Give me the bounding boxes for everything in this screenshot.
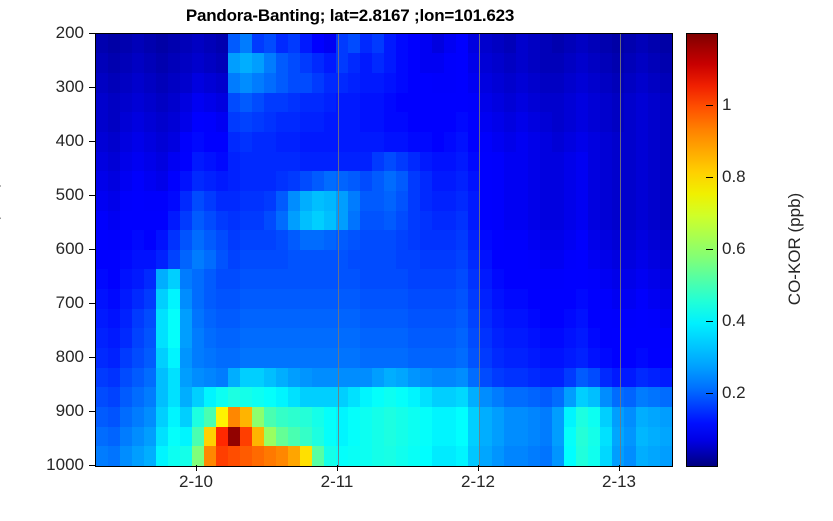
heatmap-cell (204, 112, 217, 133)
heatmap-cell (216, 328, 229, 349)
heatmap-cell (444, 407, 457, 428)
heatmap-cell (288, 211, 301, 232)
heatmap-cell (264, 73, 277, 94)
heatmap-cell (96, 34, 109, 55)
heatmap-cell (624, 230, 637, 251)
heatmap-cell (204, 427, 217, 448)
heatmap-cell (384, 34, 397, 55)
heatmap-cell (444, 34, 457, 55)
heatmap-cell (120, 191, 133, 212)
heatmap-cell (300, 368, 313, 389)
heatmap-cell (192, 211, 205, 232)
heatmap-cell (408, 387, 421, 408)
heatmap-cell (156, 309, 169, 330)
heatmap-cell (624, 289, 637, 310)
heatmap-cell (132, 34, 145, 55)
heatmap-cell (180, 53, 193, 74)
colorbar[interactable] (686, 33, 718, 467)
heatmap-cell (168, 446, 181, 467)
heatmap-cell (564, 250, 577, 271)
heatmap-cell (156, 230, 169, 251)
heatmap-cell (612, 309, 625, 330)
heatmap-cell (168, 171, 181, 192)
heatmap-cell (492, 132, 505, 153)
heatmap-cell (228, 34, 241, 55)
heatmap-cell (612, 427, 625, 448)
heatmap-cell (240, 289, 253, 310)
heatmap-cell (396, 368, 409, 389)
heatmap-cell (276, 191, 289, 212)
heatmap-cell (324, 112, 337, 133)
heatmap-cell (240, 211, 253, 232)
heatmap-cell (564, 132, 577, 153)
heatmap-cell (132, 93, 145, 114)
heatmap-cell (324, 309, 337, 330)
heatmap-cell (516, 211, 529, 232)
heatmap-cell (360, 53, 373, 74)
heatmap-cell (384, 348, 397, 369)
heatmap-cell (384, 112, 397, 133)
heatmap-cell (444, 93, 457, 114)
heatmap-cell (516, 93, 529, 114)
heatmap-cell (180, 269, 193, 290)
heatmap-cell (108, 112, 121, 133)
heatmap-cell (456, 289, 469, 310)
heatmap-cell (252, 250, 265, 271)
heatmap-cell (504, 427, 517, 448)
heatmap-cell (516, 34, 529, 55)
heatmap-cell (156, 250, 169, 271)
heatmap-cell (624, 269, 637, 290)
heatmap-plot-area[interactable] (95, 33, 673, 467)
heatmap-cell (648, 387, 661, 408)
heatmap-cell (480, 250, 493, 271)
heatmap-cell (576, 152, 589, 173)
heatmap-cell (492, 368, 505, 389)
heatmap-cell (456, 407, 469, 428)
heatmap-cell (504, 230, 517, 251)
heatmap-cell (108, 387, 121, 408)
heatmap-cell (348, 289, 361, 310)
heatmap-cell (96, 191, 109, 212)
heatmap-cell (144, 446, 157, 467)
heatmap-cell (432, 387, 445, 408)
heatmap-cell (396, 328, 409, 349)
heatmap-cell (648, 348, 661, 369)
heatmap-cell (96, 171, 109, 192)
heatmap-cell (612, 250, 625, 271)
heatmap-cell (612, 73, 625, 94)
heatmap-cell (648, 368, 661, 389)
heatmap-cell (552, 427, 565, 448)
heatmap-cell (240, 269, 253, 290)
heatmap-cell (276, 309, 289, 330)
heatmap-cell (420, 387, 433, 408)
heatmap-cell (276, 152, 289, 173)
heatmap-cell (420, 152, 433, 173)
heatmap-cell (576, 191, 589, 212)
heatmap-cell (180, 191, 193, 212)
heatmap-cell (324, 53, 337, 74)
heatmap-cell (216, 211, 229, 232)
heatmap-cell (528, 211, 541, 232)
heatmap-cell (408, 132, 421, 153)
heatmap-cell (492, 289, 505, 310)
heatmap-cell (612, 53, 625, 74)
heatmap-cell (192, 427, 205, 448)
heatmap-cell (612, 368, 625, 389)
heatmap-cell (108, 93, 121, 114)
heatmap-cell (552, 446, 565, 467)
heatmap-cell (360, 348, 373, 369)
colorbar-tick-mark (706, 249, 713, 250)
heatmap-cell (324, 191, 337, 212)
heatmap-cell (528, 34, 541, 55)
heatmap-cell (228, 93, 241, 114)
heatmap-cell (360, 309, 373, 330)
heatmap-cell (312, 34, 325, 55)
heatmap-cell (444, 328, 457, 349)
heatmap-cell (96, 211, 109, 232)
heatmap-cell (432, 250, 445, 271)
gridline-vertical (338, 34, 339, 466)
heatmap-cell (228, 368, 241, 389)
heatmap-cell (300, 446, 313, 467)
heatmap-cell (360, 328, 373, 349)
heatmap-cell (636, 269, 649, 290)
heatmap-cell (636, 328, 649, 349)
heatmap-cell (528, 230, 541, 251)
heatmap-cell (432, 446, 445, 467)
heatmap-cell (228, 387, 241, 408)
heatmap-cell (288, 191, 301, 212)
heatmap-cell (240, 191, 253, 212)
heatmap-cell (180, 132, 193, 153)
heatmap-cell (204, 269, 217, 290)
heatmap-cell (108, 230, 121, 251)
heatmap-cell (168, 230, 181, 251)
heatmap-cell (660, 34, 673, 55)
y-tick-mark (89, 303, 95, 304)
heatmap-cell (108, 53, 121, 74)
heatmap-cell (96, 348, 109, 369)
heatmap-cell (180, 230, 193, 251)
heatmap-cell (240, 230, 253, 251)
heatmap-cell (168, 387, 181, 408)
heatmap-cell (156, 269, 169, 290)
heatmap-cell (624, 328, 637, 349)
heatmap-cell (588, 407, 601, 428)
heatmap-cell (624, 93, 637, 114)
heatmap-cell (300, 211, 313, 232)
heatmap-cell (156, 446, 169, 467)
heatmap-cell (108, 328, 121, 349)
heatmap-cell (240, 250, 253, 271)
y-tick-mark (89, 249, 95, 250)
heatmap-cell (540, 328, 553, 349)
heatmap-cell (108, 132, 121, 153)
heatmap-cell (552, 309, 565, 330)
heatmap-cell (156, 73, 169, 94)
x-tick-mark (337, 465, 338, 471)
heatmap-cell (588, 93, 601, 114)
heatmap-cell (660, 446, 673, 467)
heatmap-cell (204, 309, 217, 330)
heatmap-cell (168, 269, 181, 290)
heatmap-cell (132, 112, 145, 133)
heatmap-cell (576, 387, 589, 408)
heatmap-cell (480, 132, 493, 153)
heatmap-cell (348, 348, 361, 369)
heatmap-cell (96, 328, 109, 349)
heatmap-cell (372, 171, 385, 192)
heatmap-cell (180, 368, 193, 389)
heatmap-cell (660, 152, 673, 173)
heatmap-cell (456, 427, 469, 448)
heatmap-cell (348, 368, 361, 389)
heatmap-cell (600, 269, 613, 290)
heatmap-cell (348, 446, 361, 467)
heatmap-cell (132, 211, 145, 232)
heatmap-cell (144, 73, 157, 94)
heatmap-cell (300, 171, 313, 192)
heatmap-cell (432, 211, 445, 232)
heatmap-cell (324, 152, 337, 173)
heatmap-cell (528, 427, 541, 448)
heatmap-cell (204, 446, 217, 467)
heatmap-cell (552, 112, 565, 133)
heatmap-cell (348, 191, 361, 212)
y-tick-mark (89, 141, 95, 142)
heatmap-cell (144, 368, 157, 389)
heatmap-cell (276, 368, 289, 389)
heatmap-cell (228, 132, 241, 153)
heatmap-cell (660, 269, 673, 290)
heatmap-cell (540, 34, 553, 55)
heatmap-cell (588, 53, 601, 74)
heatmap-cell (624, 427, 637, 448)
heatmap-cell (432, 73, 445, 94)
heatmap-cell (660, 309, 673, 330)
heatmap-cell (480, 427, 493, 448)
heatmap-cell (552, 387, 565, 408)
heatmap-cell (264, 132, 277, 153)
heatmap-cell (432, 407, 445, 428)
heatmap-cell (384, 73, 397, 94)
y-tick-label: 1000 (38, 455, 84, 475)
heatmap-cell (624, 171, 637, 192)
heatmap-cell (372, 368, 385, 389)
heatmap-cell (132, 309, 145, 330)
heatmap-cell (252, 309, 265, 330)
heatmap-cell (324, 407, 337, 428)
heatmap-cell (420, 446, 433, 467)
heatmap-cell (456, 93, 469, 114)
heatmap-cell (372, 230, 385, 251)
heatmap-cell (420, 269, 433, 290)
heatmap-cell (348, 34, 361, 55)
heatmap-cell (636, 348, 649, 369)
heatmap-cell (432, 34, 445, 55)
heatmap-cell (216, 230, 229, 251)
heatmap-cell (516, 112, 529, 133)
heatmap-cell (396, 269, 409, 290)
heatmap-cell (516, 171, 529, 192)
x-tick-label: 2-10 (179, 472, 213, 492)
heatmap-cell (276, 93, 289, 114)
heatmap-cell (492, 407, 505, 428)
heatmap-cell (588, 34, 601, 55)
heatmap-cell (144, 289, 157, 310)
heatmap-cell (324, 328, 337, 349)
figure-container: Pandora-Banting; lat=2.8167 ;lon=101.623… (0, 0, 833, 521)
heatmap-cell (480, 407, 493, 428)
heatmap-cell (564, 191, 577, 212)
heatmap-cell (480, 230, 493, 251)
heatmap-cell (372, 34, 385, 55)
heatmap-cell (588, 368, 601, 389)
heatmap-cell (312, 230, 325, 251)
heatmap-cell (636, 53, 649, 74)
heatmap-cell (132, 53, 145, 74)
heatmap-cell (372, 73, 385, 94)
heatmap-cell (144, 250, 157, 271)
heatmap-cell (636, 250, 649, 271)
heatmap-cell (312, 112, 325, 133)
heatmap-cell (216, 53, 229, 74)
heatmap-cell (300, 152, 313, 173)
heatmap-cell (384, 269, 397, 290)
heatmap-cell (444, 348, 457, 369)
heatmap-cell (552, 328, 565, 349)
heatmap-cell (396, 34, 409, 55)
heatmap-cell (396, 53, 409, 74)
heatmap-cell (432, 191, 445, 212)
heatmap-cell (132, 250, 145, 271)
heatmap-cell (480, 53, 493, 74)
heatmap-cell (348, 407, 361, 428)
heatmap-cell (600, 53, 613, 74)
heatmap-cell (348, 73, 361, 94)
heatmap-cell (156, 93, 169, 114)
heatmap-cell (240, 73, 253, 94)
heatmap-cell (588, 250, 601, 271)
heatmap-cell (216, 427, 229, 448)
heatmap-cell (300, 132, 313, 153)
heatmap-cell (420, 250, 433, 271)
heatmap-cell (324, 34, 337, 55)
heatmap-cell (348, 132, 361, 153)
heatmap-cell (216, 171, 229, 192)
heatmap-cell (192, 230, 205, 251)
heatmap-cell (312, 427, 325, 448)
heatmap-cell (192, 446, 205, 467)
heatmap-cell (192, 112, 205, 133)
heatmap-cell (120, 387, 133, 408)
colorbar-tick-mark (706, 321, 713, 322)
heatmap-cell (456, 132, 469, 153)
heatmap-cell (288, 407, 301, 428)
heatmap-cell (120, 34, 133, 55)
heatmap-cell (540, 407, 553, 428)
heatmap-cell (228, 230, 241, 251)
heatmap-cell (492, 152, 505, 173)
heatmap-cell (492, 387, 505, 408)
heatmap-cell (444, 427, 457, 448)
heatmap-cell (312, 446, 325, 467)
heatmap-cell (612, 328, 625, 349)
heatmap-cell (276, 230, 289, 251)
heatmap-cell (408, 446, 421, 467)
heatmap-cell (528, 269, 541, 290)
heatmap-cell (564, 34, 577, 55)
heatmap-cell (576, 112, 589, 133)
heatmap-cell (240, 309, 253, 330)
heatmap-cell (324, 387, 337, 408)
heatmap-cell (612, 446, 625, 467)
heatmap-cell (240, 387, 253, 408)
heatmap-cell (228, 328, 241, 349)
heatmap-cell (96, 427, 109, 448)
heatmap-cell (108, 309, 121, 330)
heatmap-cell (180, 328, 193, 349)
heatmap-cell (420, 171, 433, 192)
heatmap-cell (216, 34, 229, 55)
heatmap-cell (624, 407, 637, 428)
heatmap-cell (300, 328, 313, 349)
heatmap-cell (324, 73, 337, 94)
heatmap-cell (324, 93, 337, 114)
heatmap-cell (552, 93, 565, 114)
heatmap-cell (396, 73, 409, 94)
heatmap-cell (516, 191, 529, 212)
heatmap-cell (576, 230, 589, 251)
heatmap-cell (276, 34, 289, 55)
heatmap-cell (444, 269, 457, 290)
heatmap-cell (660, 53, 673, 74)
heatmap-cell (252, 407, 265, 428)
heatmap-cell (588, 328, 601, 349)
heatmap-cell (540, 446, 553, 467)
heatmap-cell (168, 34, 181, 55)
heatmap-cell (408, 230, 421, 251)
heatmap-cell (456, 309, 469, 330)
heatmap-cell (432, 112, 445, 133)
heatmap-cell (456, 191, 469, 212)
heatmap-cell (408, 211, 421, 232)
heatmap-cell (312, 407, 325, 428)
heatmap-cell (396, 427, 409, 448)
heatmap-cell (624, 191, 637, 212)
heatmap-cell (408, 53, 421, 74)
heatmap-cell (540, 73, 553, 94)
heatmap-cell (144, 132, 157, 153)
heatmap-cell (564, 368, 577, 389)
heatmap-cell (576, 407, 589, 428)
heatmap-cell (276, 348, 289, 369)
heatmap-cell (300, 250, 313, 271)
heatmap-cell (312, 211, 325, 232)
heatmap-cell (504, 152, 517, 173)
heatmap-cell (108, 152, 121, 173)
heatmap-cell (216, 387, 229, 408)
heatmap-cell (168, 328, 181, 349)
heatmap-cell (564, 289, 577, 310)
heatmap-cell (132, 269, 145, 290)
heatmap-cell (108, 407, 121, 428)
heatmap-cell (288, 368, 301, 389)
heatmap-cell (348, 427, 361, 448)
